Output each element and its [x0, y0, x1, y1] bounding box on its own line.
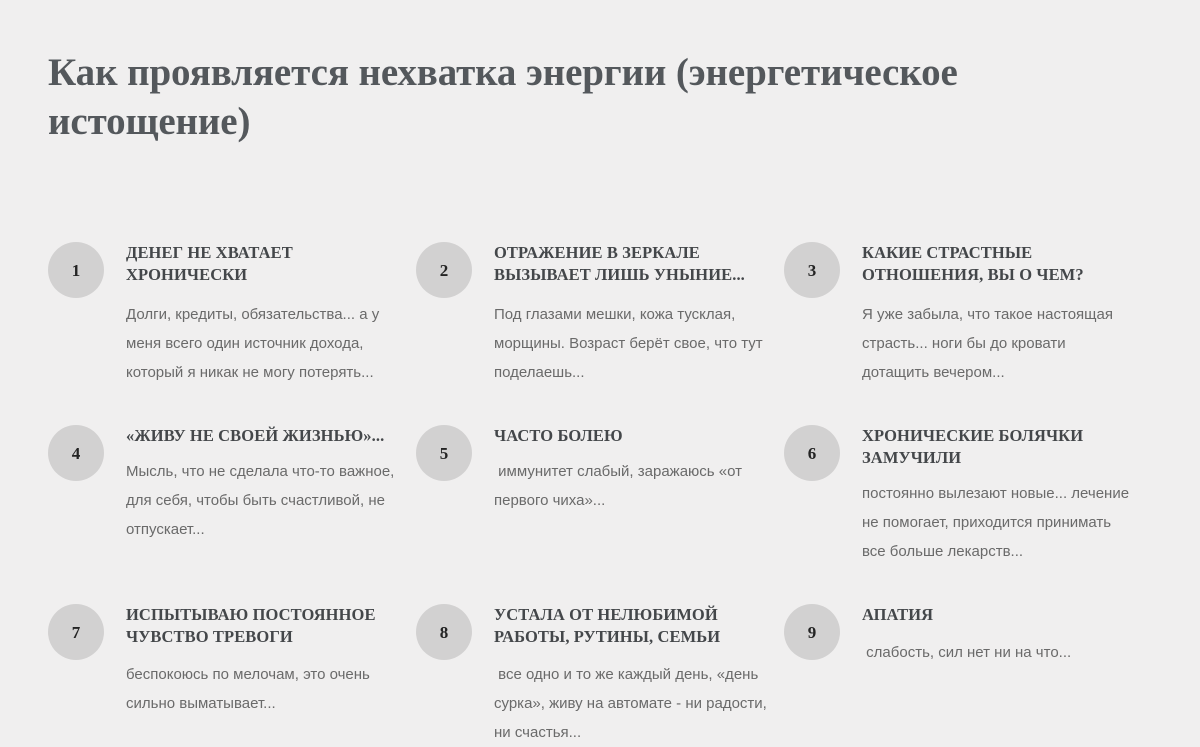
item-number-badge: 2	[416, 242, 472, 298]
list-item: 2 ОТРАЖЕНИЕ В ЗЕРКАЛЕ ВЫЗЫВАЕТ ЛИШЬ УНЫН…	[416, 228, 784, 387]
item-title: АПАТИЯ	[862, 590, 1136, 626]
item-title: ДЕНЕГ НЕ ХВАТАЕТ ХРОНИЧЕСКИ	[126, 228, 400, 286]
list-item: 3 КАКИЕ СТРАСТНЫЕ ОТНОШЕНИЯ, ВЫ О ЧЕМ? Я…	[784, 228, 1152, 387]
item-number-badge: 7	[48, 604, 104, 660]
item-text: беспокоюсь по мелочам, это очень сильно …	[126, 648, 400, 718]
item-title: «ЖИВУ НЕ СВОЕЙ ЖИЗНЬЮ»...	[126, 411, 400, 447]
page-root: Как проявляется нехватка энергии (энерге…	[0, 0, 1200, 742]
item-title: ХРОНИЧЕСКИЕ БОЛЯЧКИ ЗАМУЧИЛИ	[862, 411, 1136, 469]
item-title: ОТРАЖЕНИЕ В ЗЕРКАЛЕ ВЫЗЫВАЕТ ЛИШЬ УНЫНИЕ…	[494, 228, 768, 286]
list-item: 1 ДЕНЕГ НЕ ХВАТАЕТ ХРОНИЧЕСКИ Долги, кре…	[48, 228, 416, 387]
list-item: 4 «ЖИВУ НЕ СВОЕЙ ЖИЗНЬЮ»... Мысль, что н…	[48, 411, 416, 566]
item-text: Под глазами мешки, кожа тусклая, морщины…	[494, 286, 768, 387]
list-item: 7 ИСПЫТЫВАЮ ПОСТОЯННОЕ ЧУВСТВО ТРЕВОГИ б…	[48, 590, 416, 747]
page-title: Как проявляется нехватка энергии (энерге…	[48, 48, 1078, 146]
item-title: ИСПЫТЫВАЮ ПОСТОЯННОЕ ЧУВСТВО ТРЕВОГИ	[126, 590, 400, 648]
item-text: Мысль, что не сделала что-то важное, для…	[126, 447, 400, 544]
item-number-badge: 3	[784, 242, 840, 298]
item-number-badge: 5	[416, 425, 472, 481]
item-title: УСТАЛА ОТ НЕЛЮБИМОЙ РАБОТЫ, РУТИНЫ, СЕМЬ…	[494, 590, 768, 648]
list-item: 9 АПАТИЯ слабость, сил нет ни на что...	[784, 590, 1152, 747]
item-number-badge: 4	[48, 425, 104, 481]
list-item: 5 ЧАСТО БОЛЕЮ иммунитет слабый, заражаюс…	[416, 411, 784, 566]
item-text: слабость, сил нет ни на что...	[862, 626, 1136, 667]
item-title: КАКИЕ СТРАСТНЫЕ ОТНОШЕНИЯ, ВЫ О ЧЕМ?	[862, 228, 1136, 286]
item-number-badge: 1	[48, 242, 104, 298]
item-title: ЧАСТО БОЛЕЮ	[494, 411, 768, 447]
item-text: Долги, кредиты, обязательства... а у мен…	[126, 286, 400, 387]
item-text: иммунитет слабый, заражаюсь «от первого …	[494, 447, 768, 515]
item-number-badge: 6	[784, 425, 840, 481]
item-text: Я уже забыла, что такое настоящая страст…	[862, 286, 1136, 387]
symptom-grid: 1 ДЕНЕГ НЕ ХВАТАЕТ ХРОНИЧЕСКИ Долги, кре…	[48, 228, 1152, 747]
item-number-badge: 9	[784, 604, 840, 660]
item-text: все одно и то же каждый день, «день сурк…	[494, 648, 768, 747]
list-item: 6 ХРОНИЧЕСКИЕ БОЛЯЧКИ ЗАМУЧИЛИ постоянно…	[784, 411, 1152, 566]
item-number-badge: 8	[416, 604, 472, 660]
item-text: постоянно вылезают новые... лечение не п…	[862, 469, 1136, 566]
list-item: 8 УСТАЛА ОТ НЕЛЮБИМОЙ РАБОТЫ, РУТИНЫ, СЕ…	[416, 590, 784, 747]
